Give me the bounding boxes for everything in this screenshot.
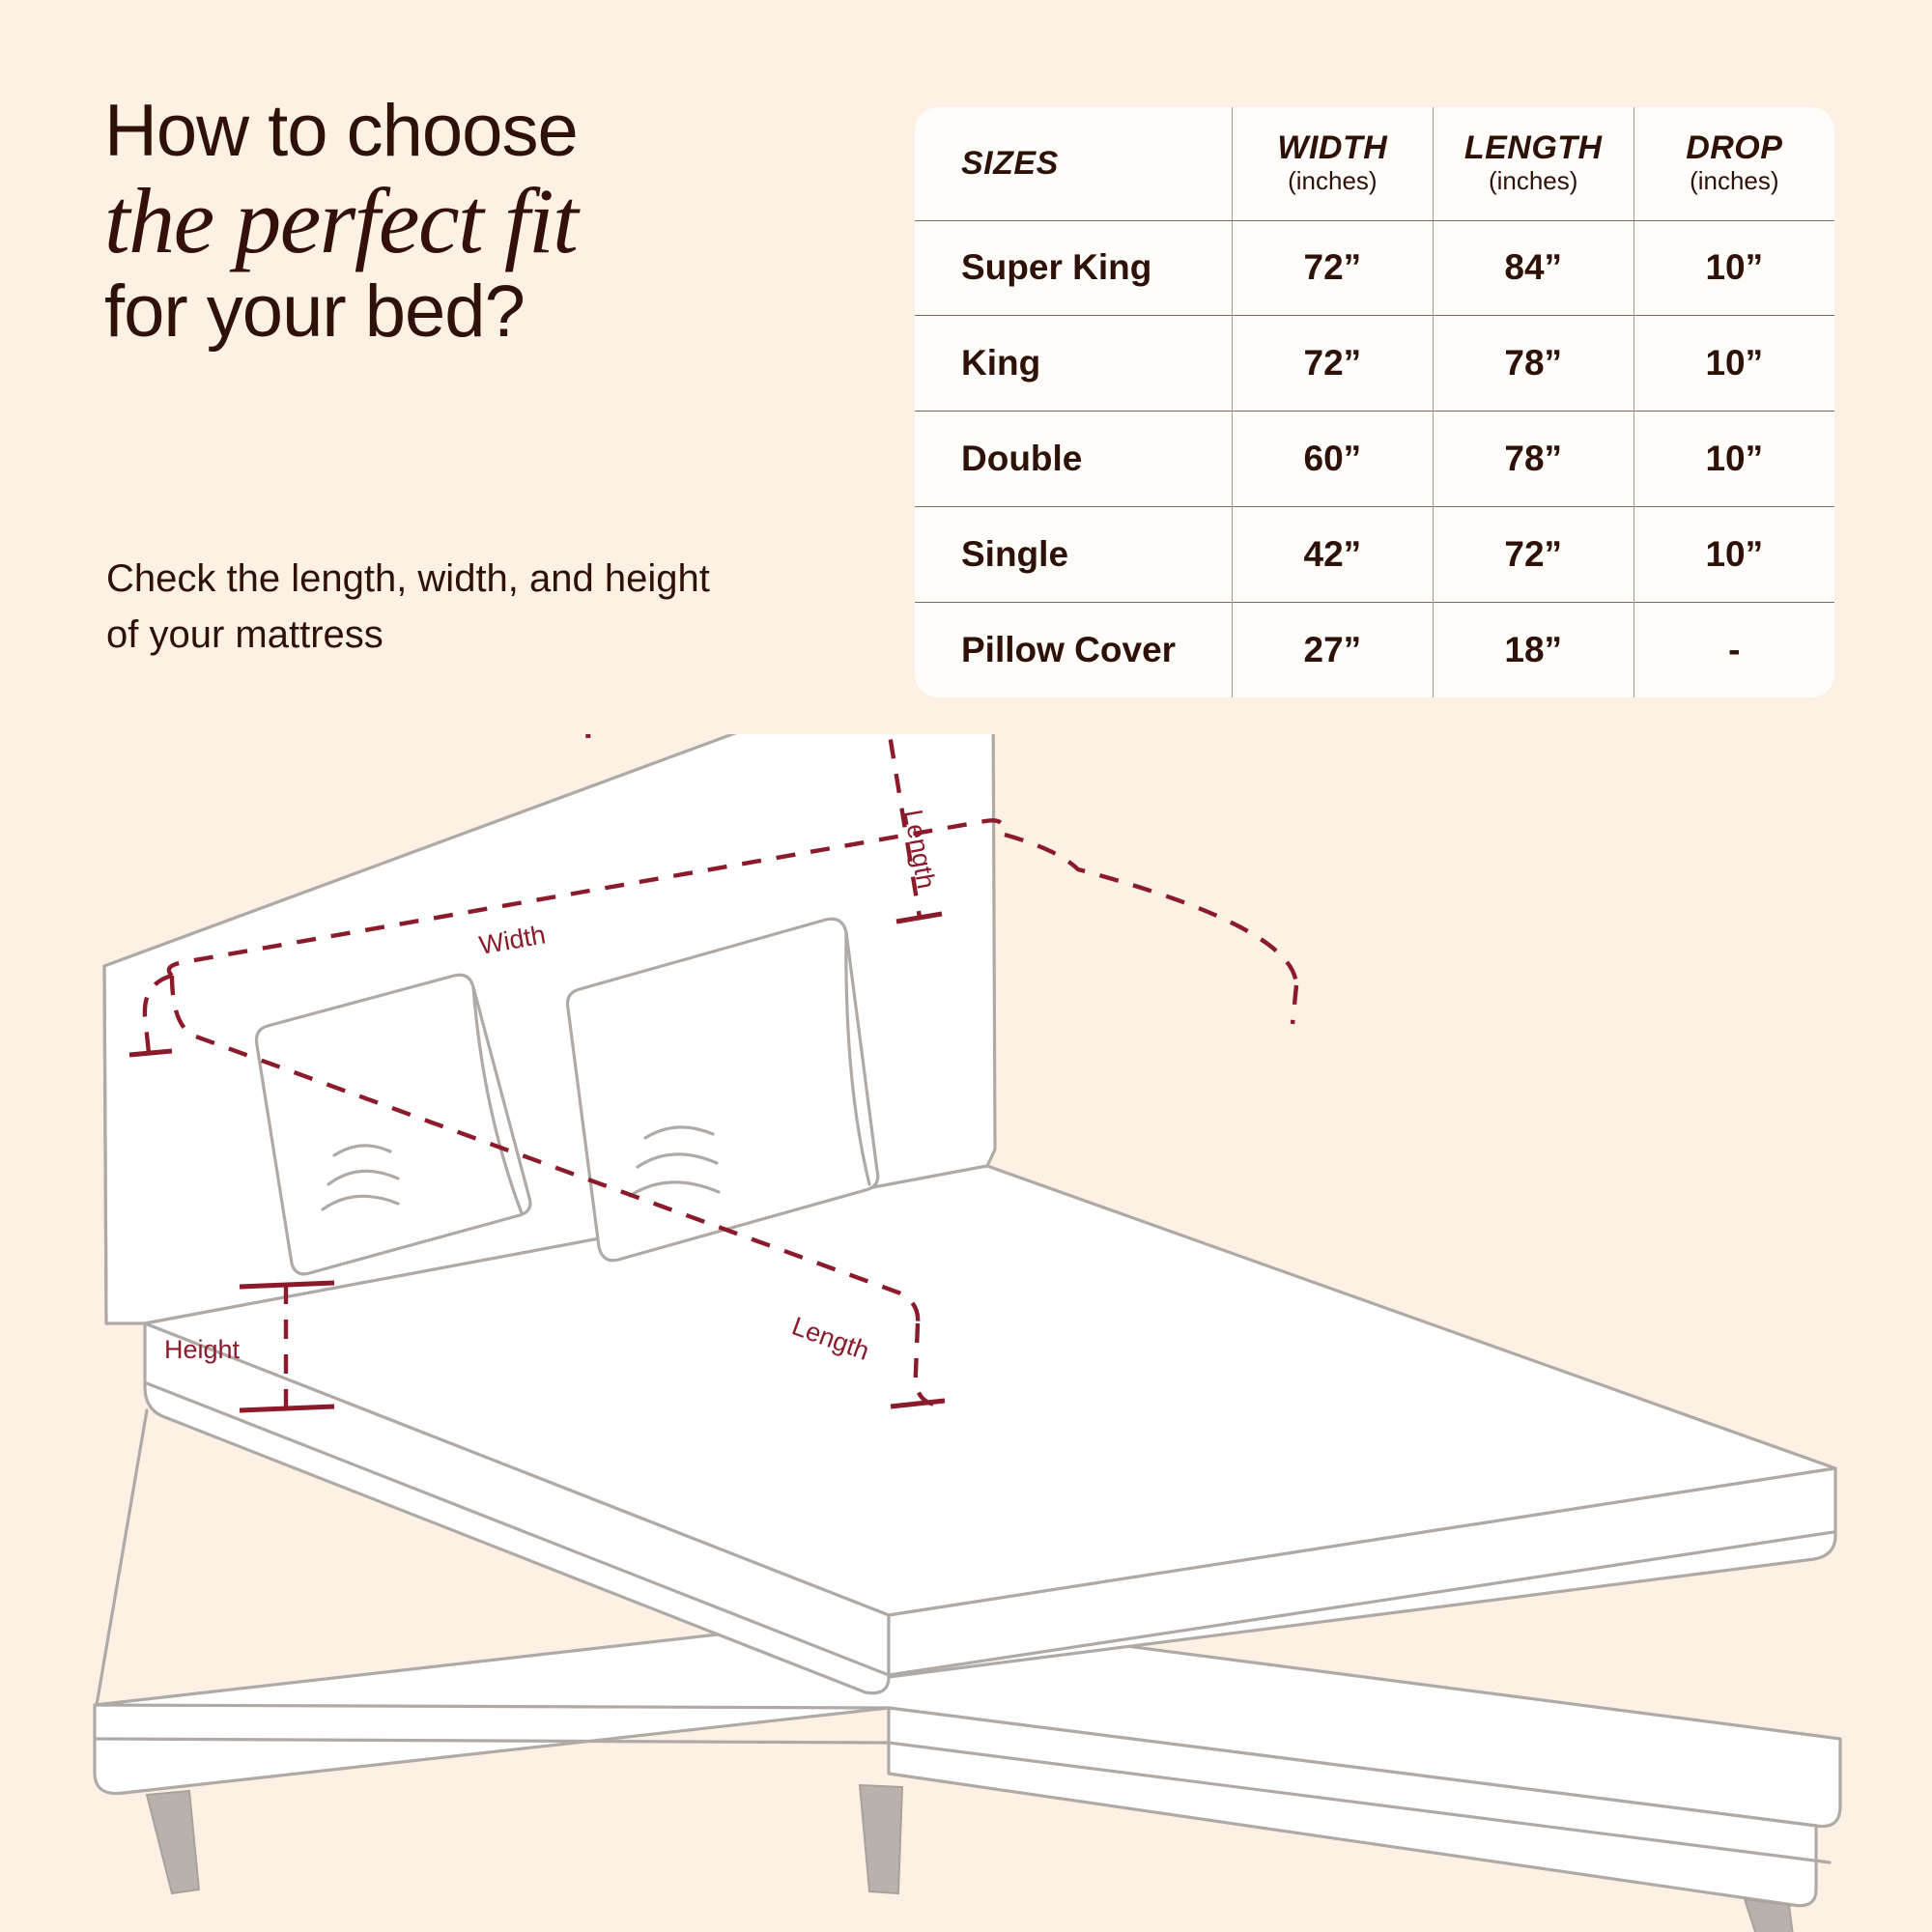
cell-length: 84” [1433, 220, 1634, 316]
cell-width: 42” [1232, 506, 1433, 602]
mattress-sheet-right-drop [1293, 985, 1296, 1024]
cell-width: 27” [1232, 602, 1433, 697]
cell-drop: 10” [1634, 412, 1834, 507]
column-header-drop-unit: (inches) [1634, 166, 1834, 196]
cell-length: 72” [1433, 506, 1634, 602]
cell-length: 18” [1433, 602, 1634, 697]
headline-line-1: How to choose [104, 93, 838, 171]
bed-diagram: Width Length Width Length Height [0, 734, 1932, 1932]
cell-size: King [915, 316, 1232, 412]
table-row: Pillow Cover 27” 18” - [915, 602, 1834, 697]
cell-length: 78” [1433, 316, 1634, 412]
cell-length: 78” [1433, 412, 1634, 507]
column-header-drop-title: DROP [1634, 130, 1834, 166]
cell-drop: - [1634, 602, 1834, 697]
cell-width: 72” [1232, 220, 1433, 316]
table-head: SIZES WIDTH (inches) LENGTH (inches) DRO… [915, 107, 1834, 220]
column-header-width: WIDTH (inches) [1232, 107, 1433, 220]
cell-width: 60” [1232, 412, 1433, 507]
cell-drop: 10” [1634, 506, 1834, 602]
cell-size: Single [915, 506, 1232, 602]
table-row: King 72” 78” 10” [915, 316, 1834, 412]
column-header-length-unit: (inches) [1434, 166, 1634, 196]
table-body: Super King 72” 84” 10” King 72” 78” 10” … [915, 220, 1834, 697]
mattress-sheet-right-corner [1005, 835, 1296, 985]
bed-leg-front-right [860, 1785, 902, 1893]
column-header-sizes-title: SIZES [961, 146, 1232, 182]
mattress-height-label: Height [164, 1335, 241, 1364]
size-chart-table: SIZES WIDTH (inches) LENGTH (inches) DRO… [915, 107, 1834, 697]
cell-size: Pillow Cover [915, 602, 1232, 697]
cell-size: Super King [915, 220, 1232, 316]
table-row: Super King 72” 84” 10” [915, 220, 1834, 316]
subtitle-text: Check the length, width, and height of y… [106, 551, 744, 663]
table-row: Single 42” 72” 10” [915, 506, 1834, 602]
cell-size: Double [915, 412, 1232, 507]
headline-line-3: for your bed? [104, 273, 838, 352]
table-header-row: SIZES WIDTH (inches) LENGTH (inches) DRO… [915, 107, 1834, 220]
headline-block: How to choose the perfect fit for your b… [104, 93, 838, 352]
cell-drop: 10” [1634, 220, 1834, 316]
pillow-width-cap-left [584, 734, 588, 738]
column-header-length-title: LENGTH [1434, 130, 1634, 166]
column-header-drop: DROP (inches) [1634, 107, 1834, 220]
headboard-left-edge [104, 966, 106, 1323]
column-header-length: LENGTH (inches) [1433, 107, 1634, 220]
cell-width: 72” [1232, 316, 1433, 412]
size-chart: SIZES WIDTH (inches) LENGTH (inches) DRO… [915, 107, 1834, 697]
column-header-width-title: WIDTH [1233, 130, 1433, 166]
column-header-width-unit: (inches) [1233, 166, 1433, 196]
column-header-sizes: SIZES [915, 107, 1232, 220]
headline-line-2: the perfect fit [104, 173, 838, 270]
mattress-base-gap [97, 1410, 147, 1705]
table-row: Double 60” 78” 10” [915, 412, 1834, 507]
cell-drop: 10” [1634, 316, 1834, 412]
bed-leg-front-left [147, 1791, 199, 1893]
